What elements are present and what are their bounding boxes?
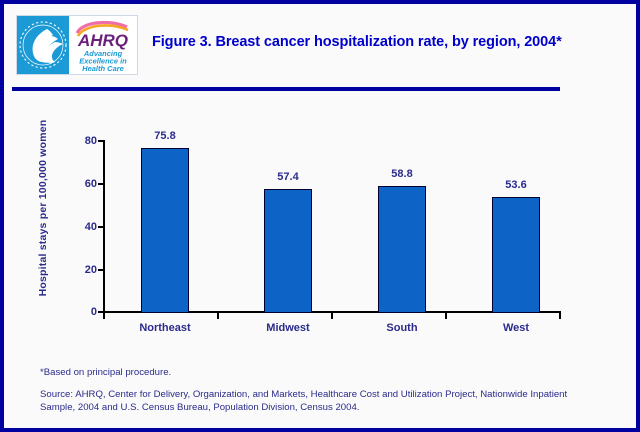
- x-tick-mark-1: [217, 313, 219, 319]
- ahrq-wordmark: AHRQ Advancing Excellence in Health Care: [69, 16, 137, 74]
- x-category-label-west: West: [461, 322, 571, 334]
- y-tick-label-0: 0: [67, 307, 97, 318]
- figure-notes: *Based on principal procedure. Source: A…: [40, 366, 600, 414]
- bar-northeast[interactable]: [141, 148, 189, 313]
- x-tick-mark-4: [559, 313, 561, 319]
- bar-chart: Hospital stays per 100,000 women 80 60 4…: [4, 90, 636, 350]
- y-tick-label-60: 60: [67, 179, 97, 190]
- ahrq-tagline-3: Health Care: [82, 64, 124, 73]
- y-tick-label-80: 80: [67, 136, 97, 147]
- y-axis-label: Hospital stays per 100,000 women: [37, 113, 49, 303]
- x-tick-mark-3: [445, 313, 447, 319]
- x-category-label-south: South: [347, 322, 457, 334]
- page-header: AHRQ Advancing Excellence in Health Care…: [4, 4, 636, 84]
- bar-value-midwest: 57.4: [258, 171, 318, 183]
- bar-south[interactable]: [378, 186, 426, 313]
- x-category-label-northeast: Northeast: [110, 322, 220, 334]
- y-axis-line: [103, 140, 105, 313]
- y-tick-label-20: 20: [67, 265, 97, 276]
- x-tick-mark-2: [331, 313, 333, 319]
- ahrq-logo-text: AHRQ: [77, 31, 128, 50]
- x-category-label-midwest: Midwest: [233, 322, 343, 334]
- source-text: Source: AHRQ, Center for Delivery, Organ…: [40, 388, 574, 414]
- bar-west[interactable]: [492, 197, 540, 313]
- bar-value-south: 58.8: [372, 168, 432, 180]
- footnote-text: *Based on principal procedure.: [40, 366, 600, 379]
- agency-logo: AHRQ Advancing Excellence in Health Care: [16, 15, 138, 75]
- page-title: Figure 3. Breast cancer hospitalization …: [152, 34, 622, 50]
- bar-value-northeast: 75.8: [135, 130, 195, 142]
- figure-page: AHRQ Advancing Excellence in Health Care…: [0, 0, 640, 432]
- x-tick-mark-0: [103, 313, 105, 319]
- hhs-seal-icon: [17, 16, 69, 74]
- bar-midwest[interactable]: [264, 189, 312, 313]
- bar-value-west: 53.6: [486, 179, 546, 191]
- y-tick-label-40: 40: [67, 222, 97, 233]
